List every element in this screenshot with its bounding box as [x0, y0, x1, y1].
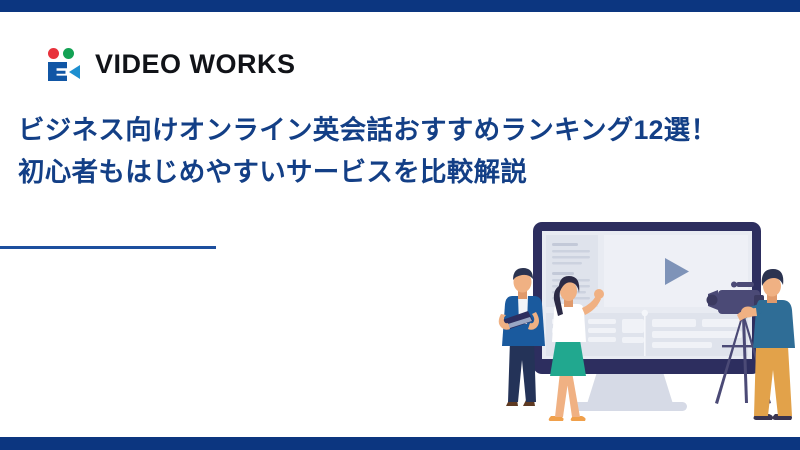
monitor-stand-base: [573, 402, 687, 411]
bottom-accent-band: [0, 437, 800, 450]
sidebar-line: [552, 243, 578, 246]
operator-hand: [741, 307, 755, 318]
timeline-playhead-handle[interactable]: [642, 310, 648, 316]
hero-illustration: [460, 212, 800, 437]
man-trousers: [508, 340, 536, 402]
woman-skirt: [550, 340, 586, 376]
headline-line-1: ビジネス向けオンライン英会話おすすめランキング12選！: [18, 110, 578, 152]
timeline-clip: [622, 319, 644, 333]
sidebar-line: [552, 262, 582, 265]
woman-leg-right: [566, 372, 580, 417]
timeline-clip: [652, 331, 742, 338]
timeline-clip: [702, 319, 742, 327]
timeline-bar: [588, 319, 616, 324]
brand-name: VIDEO WORKS: [95, 49, 296, 80]
timeline-playhead[interactable]: [644, 312, 646, 356]
title-underline-rule: [0, 246, 216, 249]
camera-knob: [731, 282, 737, 288]
top-accent-band: [0, 0, 800, 12]
timeline-clip: [622, 337, 644, 343]
sidebar-line: [552, 250, 590, 253]
logo-dot-green-icon: [63, 48, 74, 59]
woman-hand: [594, 289, 604, 299]
sidebar-line: [552, 272, 574, 275]
logo-bracket-icon: [48, 62, 67, 81]
camera-lens: [707, 295, 718, 306]
logo-play-triangle-icon: [69, 65, 80, 79]
page-title: ビジネス向けオンライン英会話おすすめランキング12選！ 初心者もはじめやすいサー…: [18, 110, 578, 194]
operator-trousers: [754, 346, 792, 416]
timeline-bar: [588, 328, 616, 333]
slide-canvas: VIDEO WORKS ビジネス向けオンライン英会話おすすめランキング12選！ …: [0, 0, 800, 450]
headline-line-2: 初心者もはじめやすいサービスを比較解説: [18, 152, 578, 194]
camera-top-handle: [736, 282, 754, 287]
video-works-mark-icon: [46, 48, 82, 81]
timeline-bar: [588, 337, 616, 342]
monitor-stand-neck: [587, 372, 673, 404]
brand-logo: VIDEO WORKS: [46, 48, 296, 81]
sidebar-line: [552, 256, 590, 259]
logo-dot-red-icon: [48, 48, 59, 59]
timeline-clip: [652, 319, 696, 327]
timeline-clip: [652, 342, 712, 348]
